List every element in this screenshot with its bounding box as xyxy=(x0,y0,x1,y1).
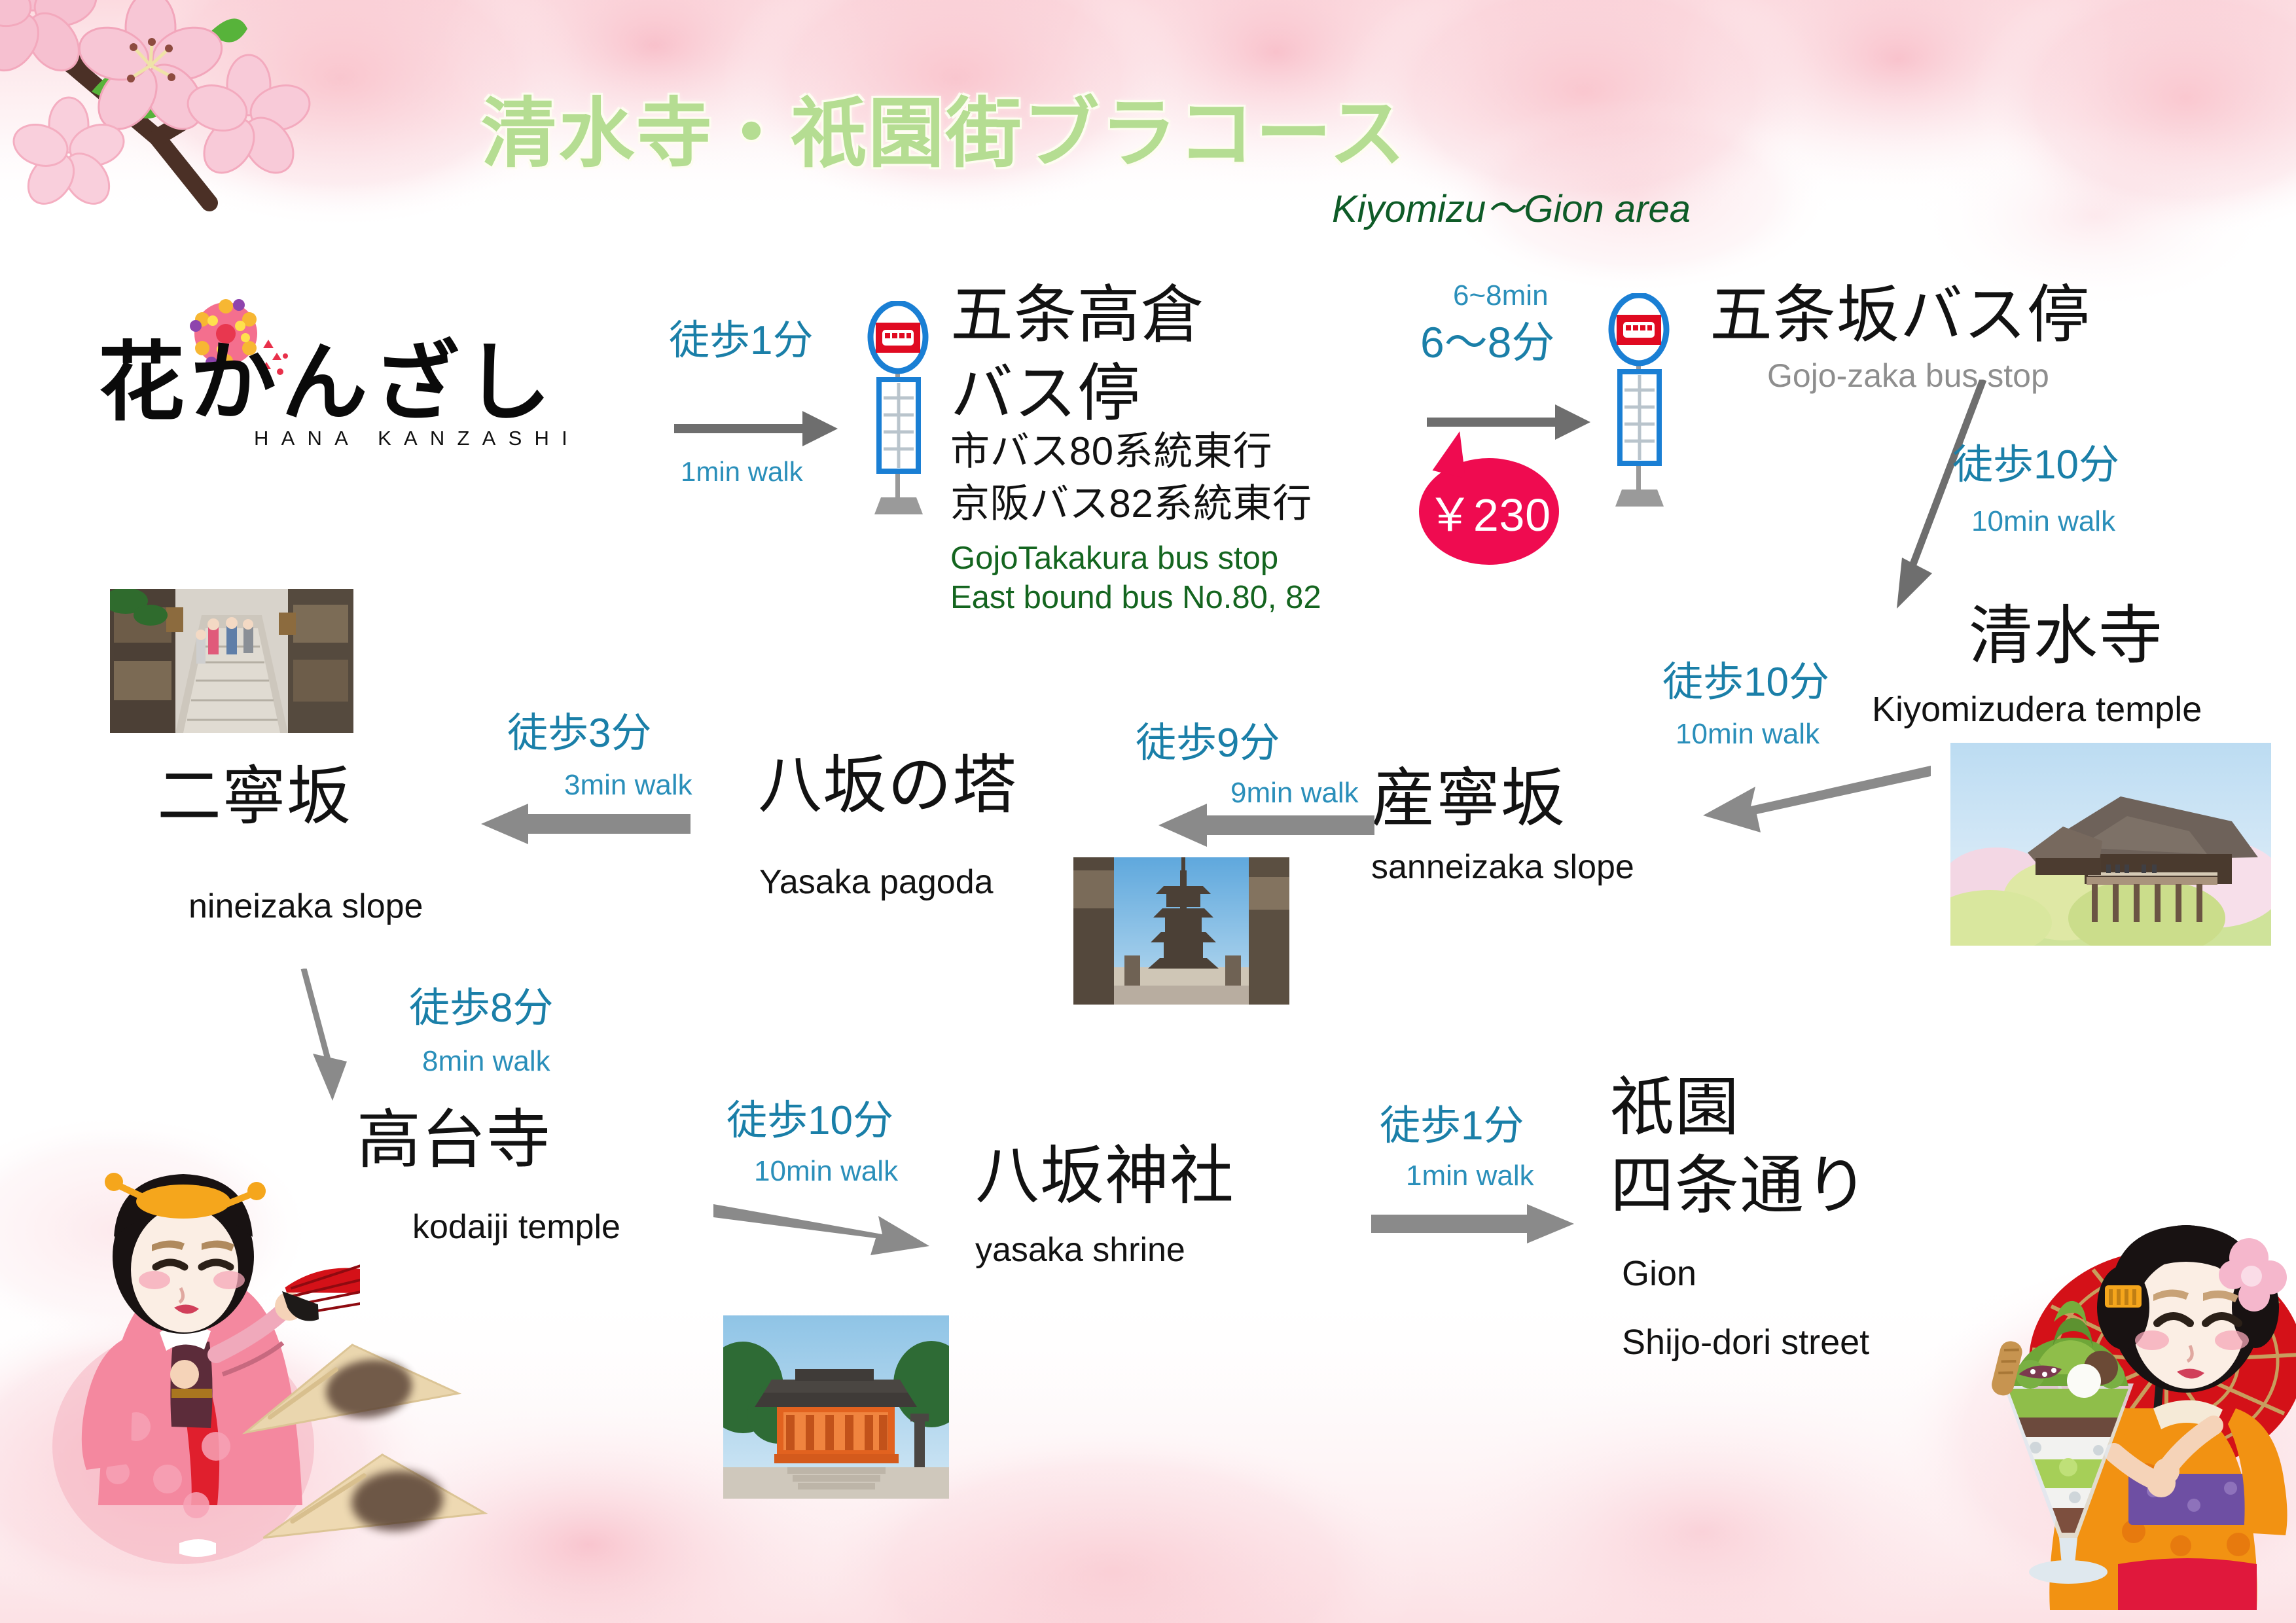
segment-6-walk-time-en: 3min walk xyxy=(564,771,692,800)
stop-kodaiji-en: kodaiji temple xyxy=(412,1207,620,1247)
stop-gojo-takakura-en-line1: GojoTakakura bus stop xyxy=(950,540,1278,577)
cherry-blossom-branch-icon xyxy=(0,0,452,268)
segment-8-walk-time-jp: 徒歩10分 xyxy=(726,1101,893,1141)
segment-9-walk-time-jp: 徒歩1分 xyxy=(1380,1106,1524,1147)
segment-3-walk-time-jp: 徒歩10分 xyxy=(1952,445,2119,486)
segment-1-arrow-right-icon xyxy=(674,406,838,452)
segment-4-walk-time-en: 10min walk xyxy=(1676,720,1820,749)
photo-nineizaka xyxy=(110,589,353,733)
stop-yasaka-pagoda-en: Yasaka pagoda xyxy=(759,863,994,902)
stop-gion-jp-line1: 祇園 xyxy=(1610,1073,1740,1141)
segment-9-arrow-right-icon xyxy=(1371,1204,1574,1243)
stop-gojo-takakura-en-line2: East bound bus No.80, 82 xyxy=(950,579,1321,616)
segment-6-arrow-left-icon xyxy=(481,804,691,844)
segment-8-walk-time-en: 10min walk xyxy=(754,1157,898,1186)
stop-kiyomizudera-en: Kiyomizudera temple xyxy=(1872,689,2202,730)
segment-4-arrow-left-icon xyxy=(1695,753,1931,844)
stop-kiyomizudera-jp: 清水寺 xyxy=(1969,602,2163,669)
stop-kodaiji-jp: 高台寺 xyxy=(357,1106,551,1173)
segment-2-ride-time-en: 6~8min xyxy=(1453,281,1549,310)
segment-7-walk-time-en: 8min walk xyxy=(422,1047,550,1076)
segment-5-walk-time-jp: 徒歩9分 xyxy=(1136,723,1280,764)
segment-9-walk-time-en: 1min walk xyxy=(1406,1162,1534,1190)
stop-gojo-takakura-route-1: 市バス80系統東行 xyxy=(950,431,1272,472)
segment-1-walk-time-en: 1min walk xyxy=(681,458,803,486)
stop-yasaka-shrine-en: yasaka shrine xyxy=(975,1230,1185,1270)
photo-yasaka-pagoda xyxy=(1073,857,1289,1005)
matcha-parfait-illustration xyxy=(1970,1276,2166,1603)
segment-2-ride-time-jp: 6～8分 xyxy=(1420,321,1554,364)
segment-6-walk-time-jp: 徒歩3分 xyxy=(507,713,651,754)
stop-gion-en-line1: Gion xyxy=(1622,1253,1696,1294)
segment-7-walk-time-jp: 徒歩8分 xyxy=(409,988,553,1029)
stop-gojo-takakura-jp-line2: バス停 xyxy=(950,361,1141,427)
stop-nineizaka-en: nineizaka slope xyxy=(188,887,423,926)
photo-yasaka-shrine xyxy=(723,1315,949,1499)
fare-badge: ￥230 xyxy=(1419,458,1559,565)
stop-yasaka-shrine-jp: 八坂神社 xyxy=(975,1142,1234,1209)
segment-3-arrow-down-icon xyxy=(1885,380,2055,615)
stop-gojo-zaka-jp: 五条坂バス停 xyxy=(1710,283,2090,349)
segment-1-walk-time-jp: 徒歩1分 xyxy=(669,321,813,361)
page-title: 清水寺・祇園街ブラコース xyxy=(481,72,1407,182)
stop-gojo-takakura-jp-line1: 五条高倉 xyxy=(950,283,1204,349)
yatsuhashi-sweets-illustration xyxy=(216,1335,491,1597)
segment-7-arrow-down-icon xyxy=(295,969,380,1106)
brand-logo-japanese: 花かんざし xyxy=(98,313,556,438)
segment-3-walk-time-en: 10min walk xyxy=(1971,507,2115,536)
stop-sanneizaka-en: sanneizaka slope xyxy=(1371,847,1634,887)
stop-gion-jp-line2: 四条通り xyxy=(1610,1152,1869,1219)
bus-stop-sign-icon-2 xyxy=(1604,293,1676,509)
segment-4-walk-time-jp: 徒歩10分 xyxy=(1662,662,1829,703)
stop-sanneizaka-jp: 産寧坂 xyxy=(1371,764,1566,832)
stop-gion-en-line2: Shijo-dori street xyxy=(1622,1322,1869,1363)
photo-kiyomizudera xyxy=(1950,743,2271,946)
stop-gojo-takakura-route-2: 京阪バス82系統東行 xyxy=(950,483,1312,524)
page-subtitle: Kiyomizu～Gion area xyxy=(1332,178,1691,233)
stop-nineizaka-jp: 二寧坂 xyxy=(157,762,351,830)
segment-8-arrow-right-icon xyxy=(713,1198,929,1257)
segment-5-arrow-left-icon xyxy=(1158,804,1374,847)
stop-yasaka-pagoda-jp: 八坂の塔 xyxy=(758,751,1017,819)
brand-logo-romaji: HANA KANZASHI xyxy=(254,427,580,450)
bus-stop-sign-icon xyxy=(863,301,935,517)
